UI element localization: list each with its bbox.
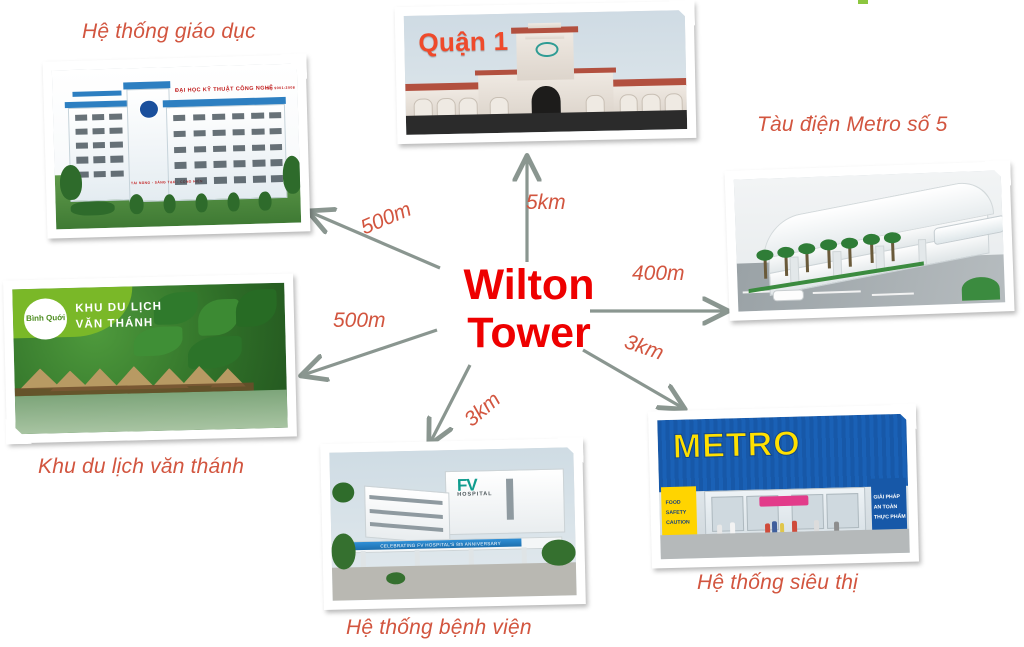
vanthanh-banner-line2: VĂN THÁNH [76, 315, 154, 334]
hospital-logo-sub: HOSPITAL [457, 493, 493, 499]
photo-card-district1[interactable]: Quận 1 [395, 1, 697, 144]
distance-label-university: 500m [357, 198, 415, 241]
supermarket-logo: METRO [672, 425, 801, 467]
district1-overlay-label: Quận 1 [418, 26, 509, 59]
infographic-canvas: Wilton Tower 500m 5km 400m 500m 3km 3km … [0, 0, 1024, 647]
distance-label-district1: 5km [526, 191, 566, 215]
arrow-to-hospital [430, 365, 470, 443]
distance-label-supermarket: 3km [621, 330, 666, 366]
supermarket-banner-left-1: FOOD [666, 499, 681, 509]
photo-card-hospital[interactable]: FV HOSPITAL CELEBRATING FV HOSPITAL'S 8t… [320, 438, 586, 610]
caption-university: Hệ thống giáo dục [82, 20, 256, 44]
photo-card-vanthanh[interactable]: Bình Quới KHU DU LỊCH VĂN THÁNH [3, 273, 297, 443]
photo-fv-hospital: FV HOSPITAL CELEBRATING FV HOSPITAL'S 8t… [329, 447, 576, 600]
photo-university: ĐẠI HỌC KỸ THUẬT CÔNG NGHỆ ISO 9001:2008… [52, 64, 301, 230]
photo-metro-supermarket: METRO FOOD SAFETY CAUTION GIẢI PHÁP AN T… [657, 414, 910, 559]
edge-artifact [858, 0, 868, 4]
photo-card-metro-station[interactable] [724, 161, 1014, 321]
car-icon [772, 289, 804, 301]
photo-card-university[interactable]: ĐẠI HỌC KỸ THUẬT CÔNG NGHỆ ISO 9001:2008… [43, 54, 311, 238]
page-title: Wilton Tower [431, 261, 627, 357]
photo-card-supermarket[interactable]: METRO FOOD SAFETY CAUTION GIẢI PHÁP AN T… [648, 405, 919, 569]
distance-label-vanthanh: 500m [333, 309, 386, 333]
caption-hospital: Hệ thống bệnh viện [346, 616, 532, 640]
university-iso-badge: ISO 9001:2008 [266, 86, 296, 91]
center-title-line2: Tower [431, 309, 627, 357]
caption-metro-station: Tàu điện Metro số 5 [757, 113, 948, 137]
photo-van-thanh-resort: Bình Quới KHU DU LỊCH VĂN THÁNH [12, 283, 287, 435]
arrow-to-vanthanh [303, 330, 437, 375]
caption-supermarket: Hệ thống siêu thị [697, 571, 858, 595]
caption-vanthanh: Khu du lịch văn thánh [38, 455, 244, 479]
photo-ben-thanh-market: Quận 1 [404, 10, 687, 135]
arrow-to-supermarket [583, 350, 683, 408]
supermarket-banner-left-3: CAUTION [666, 518, 690, 528]
center-title-line1: Wilton [431, 261, 627, 309]
supermarket-banner-right-3: THỰC PHẨM [874, 513, 906, 524]
distance-label-metro-station: 400m [632, 262, 685, 286]
distance-label-hospital: 3km [460, 388, 506, 432]
photo-metro-station [734, 170, 1005, 311]
hospital-logo: FV HOSPITAL [457, 477, 493, 498]
